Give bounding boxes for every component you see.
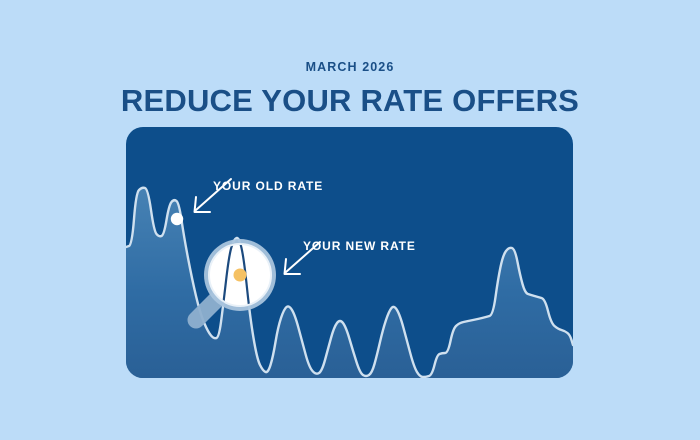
new-rate-label: YOUR NEW RATE (303, 239, 416, 253)
poster-stage: MARCH 2026 REDUCE YOUR RATE OFFERS (0, 0, 700, 440)
old-rate-marker (171, 213, 183, 225)
old-rate-label: YOUR OLD RATE (213, 179, 323, 193)
new-rate-marker (234, 269, 247, 282)
eyebrow-date: MARCH 2026 (0, 60, 700, 74)
page-title: REDUCE YOUR RATE OFFERS (0, 83, 700, 119)
